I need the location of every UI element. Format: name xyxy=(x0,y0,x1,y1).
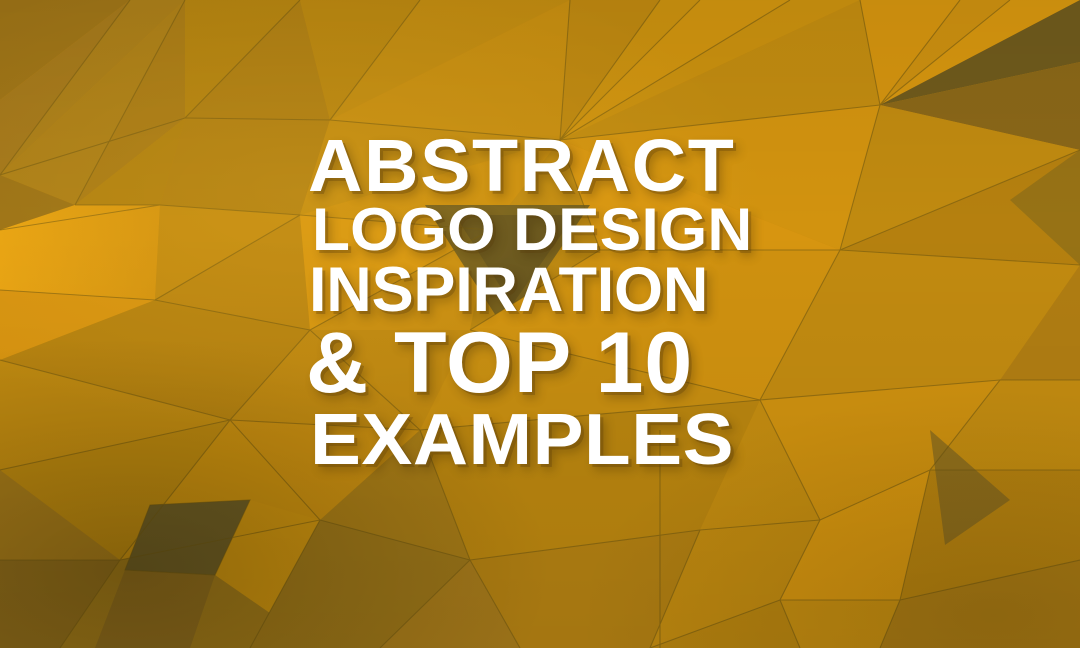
headline-line-2: LOGO DESIGN xyxy=(312,200,846,259)
headline-line-4: & TOP 10 xyxy=(306,321,828,405)
headline-line-5: EXAMPLES xyxy=(310,405,859,475)
headline-block: ABSTRACT LOGO DESIGN INSPIRATION & TOP 1… xyxy=(308,132,828,475)
hero-banner: ABSTRACT LOGO DESIGN INSPIRATION & TOP 1… xyxy=(0,0,1080,648)
headline-line-1: ABSTRACT xyxy=(308,132,838,200)
headline-line-3: INSPIRATION xyxy=(309,259,828,321)
